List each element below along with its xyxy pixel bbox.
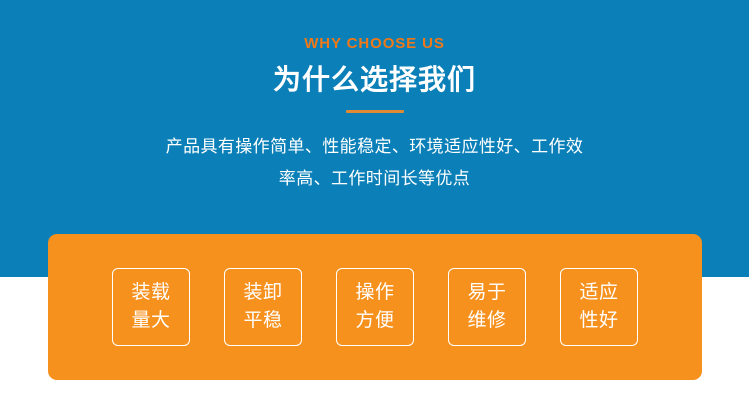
- feature-box-loading-capacity[interactable]: 装载 量大: [112, 268, 190, 346]
- feature-label-line-1: 适应: [579, 279, 618, 307]
- feature-label-line-1: 易于: [467, 279, 506, 307]
- feature-box-easy-maintenance[interactable]: 易于 维修: [448, 268, 526, 346]
- feature-label-line-1: 装卸: [243, 279, 282, 307]
- description-line-1: 产品具有操作简单、性能稳定、环境适应性好、工作效: [135, 131, 615, 163]
- promo-banner: WHY CHOOSE US 为什么选择我们 产品具有操作简单、性能稳定、环境适应…: [0, 0, 749, 403]
- description-line-2: 率高、工作时间长等优点: [135, 163, 615, 195]
- feature-label-line-1: 装载: [131, 279, 170, 307]
- eyebrow-text: WHY CHOOSE US: [0, 0, 749, 54]
- feature-box-smooth-handling[interactable]: 装卸 平稳: [224, 268, 302, 346]
- description-text: 产品具有操作简单、性能稳定、环境适应性好、工作效 率高、工作时间长等优点: [135, 113, 615, 195]
- header-block: WHY CHOOSE US 为什么选择我们 产品具有操作简单、性能稳定、环境适应…: [0, 0, 749, 195]
- feature-label-line-2: 性好: [579, 307, 618, 335]
- feature-label-line-2: 量大: [131, 307, 170, 335]
- page-title: 为什么选择我们: [0, 54, 749, 98]
- feature-box-easy-operation[interactable]: 操作 方便: [336, 268, 414, 346]
- feature-label-line-2: 平稳: [243, 307, 282, 335]
- feature-label-line-2: 方便: [355, 307, 394, 335]
- feature-box-good-adaptability[interactable]: 适应 性好: [560, 268, 638, 346]
- feature-label-line-2: 维修: [467, 307, 506, 335]
- feature-card: 装载 量大 装卸 平稳 操作 方便 易于 维修 适应 性好: [48, 234, 702, 380]
- feature-label-line-1: 操作: [355, 279, 394, 307]
